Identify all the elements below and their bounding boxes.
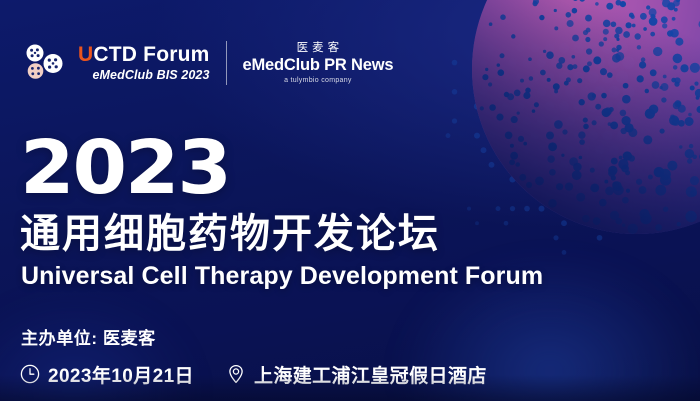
uctd-brand-title: UCTD Forum	[78, 44, 210, 66]
event-title-english: Universal Cell Therapy Development Forum	[21, 262, 543, 291]
logo-lockup: UCTD Forum eMedClub BIS 2023 医麦客 eMedClu…	[22, 38, 393, 88]
logo-divider	[226, 41, 227, 85]
event-year: 2023	[20, 131, 230, 205]
gradient-dot-sphere	[472, 0, 700, 234]
bottom-vignette	[0, 375, 700, 401]
uctd-accent-letter: U	[78, 43, 93, 66]
event-poster: UCTD Forum eMedClub BIS 2023 医麦客 eMedClu…	[0, 0, 700, 401]
cell-cluster-icon	[22, 43, 68, 83]
uctd-brand-subtitle: eMedClub BIS 2023	[78, 68, 210, 82]
event-title-chinese: 通用细胞药物开发论坛	[20, 212, 440, 257]
uctd-title-rest: CTD Forum	[93, 43, 209, 66]
emedclub-brand: 医麦客 eMedClub PR News a tulymbio company	[243, 42, 394, 85]
uctd-brand: UCTD Forum eMedClub BIS 2023	[78, 44, 210, 82]
emedclub-tagline: a tulymbio company	[284, 77, 352, 84]
organizer-line: 主办单位: 医麦客	[21, 324, 156, 349]
emedclub-english-name: eMedClub PR News	[243, 56, 394, 75]
emedclub-chinese-name: 医麦客	[293, 42, 344, 55]
sphere-fade-overlay	[472, 0, 700, 234]
